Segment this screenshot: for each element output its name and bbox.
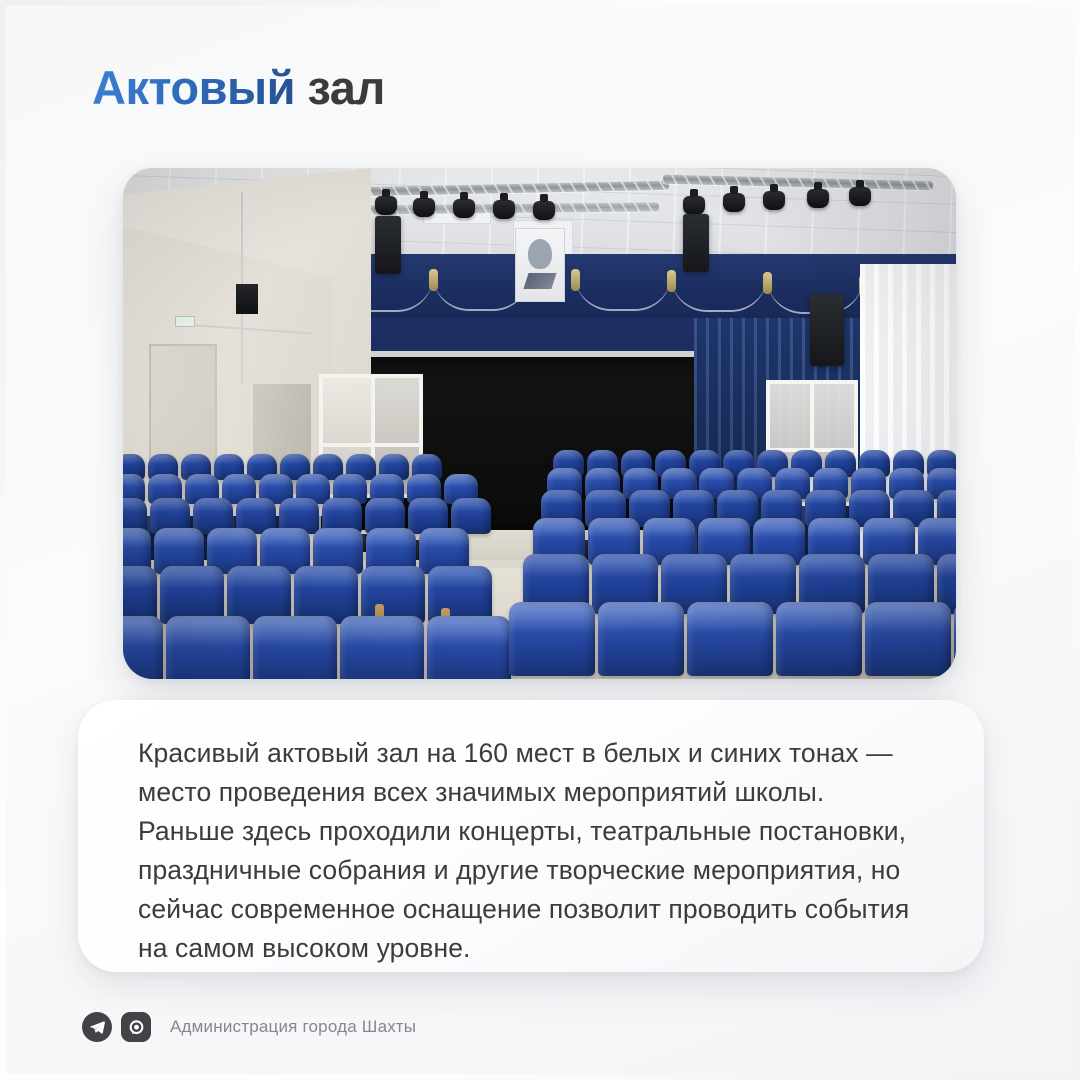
spotlight-icon: [807, 189, 829, 208]
spotlight-icon: [375, 196, 397, 215]
valance-tassel: [571, 269, 580, 291]
line-array-speaker: [683, 214, 709, 272]
suspension-wire: [241, 314, 243, 384]
line-array-speaker: [810, 294, 844, 366]
valance-swag: [575, 275, 671, 311]
valance-tassel: [763, 272, 772, 294]
page-title-accent: Актовый: [92, 61, 295, 114]
seat-row: [509, 602, 956, 676]
valance-swag: [671, 276, 767, 312]
description-paragraph: Красивый актовый зал на 160 мест в белых…: [138, 734, 928, 968]
spotlight-icon: [413, 198, 435, 217]
description-text: Красивый актовый зал на 160 мест в белых…: [138, 734, 928, 968]
footer: Администрация города Шахты: [82, 1012, 416, 1042]
telegram-icon[interactable]: [82, 1012, 112, 1042]
spotlight-icon: [723, 193, 745, 212]
spotlight-icon: [763, 191, 785, 210]
description-card: Красивый актовый зал на 160 мест в белых…: [78, 700, 984, 972]
stage-portrait-plaque: [515, 228, 565, 302]
spotlight-icon: [683, 196, 705, 215]
footer-attribution: Администрация города Шахты: [170, 1017, 416, 1037]
line-array-speaker: [375, 216, 401, 274]
page-title-rest: зал: [295, 61, 385, 114]
wall-speaker: [236, 284, 258, 314]
spotlight-icon: [849, 187, 871, 206]
hall-photo: [123, 168, 956, 679]
seat-row: [123, 616, 511, 679]
valance-tassel: [667, 270, 676, 292]
suspension-wire: [241, 192, 243, 288]
hall-photo-card: [123, 168, 956, 679]
spotlight-icon: [453, 199, 475, 218]
valance-tassel: [429, 269, 438, 291]
exit-sign-icon: [175, 316, 195, 327]
poster-root: Актовый зал: [0, 0, 1080, 1080]
spotlight-icon: [533, 201, 555, 220]
page-title: Актовый зал: [92, 62, 385, 114]
max-messenger-icon[interactable]: [121, 1012, 151, 1042]
spotlight-icon: [493, 200, 515, 219]
